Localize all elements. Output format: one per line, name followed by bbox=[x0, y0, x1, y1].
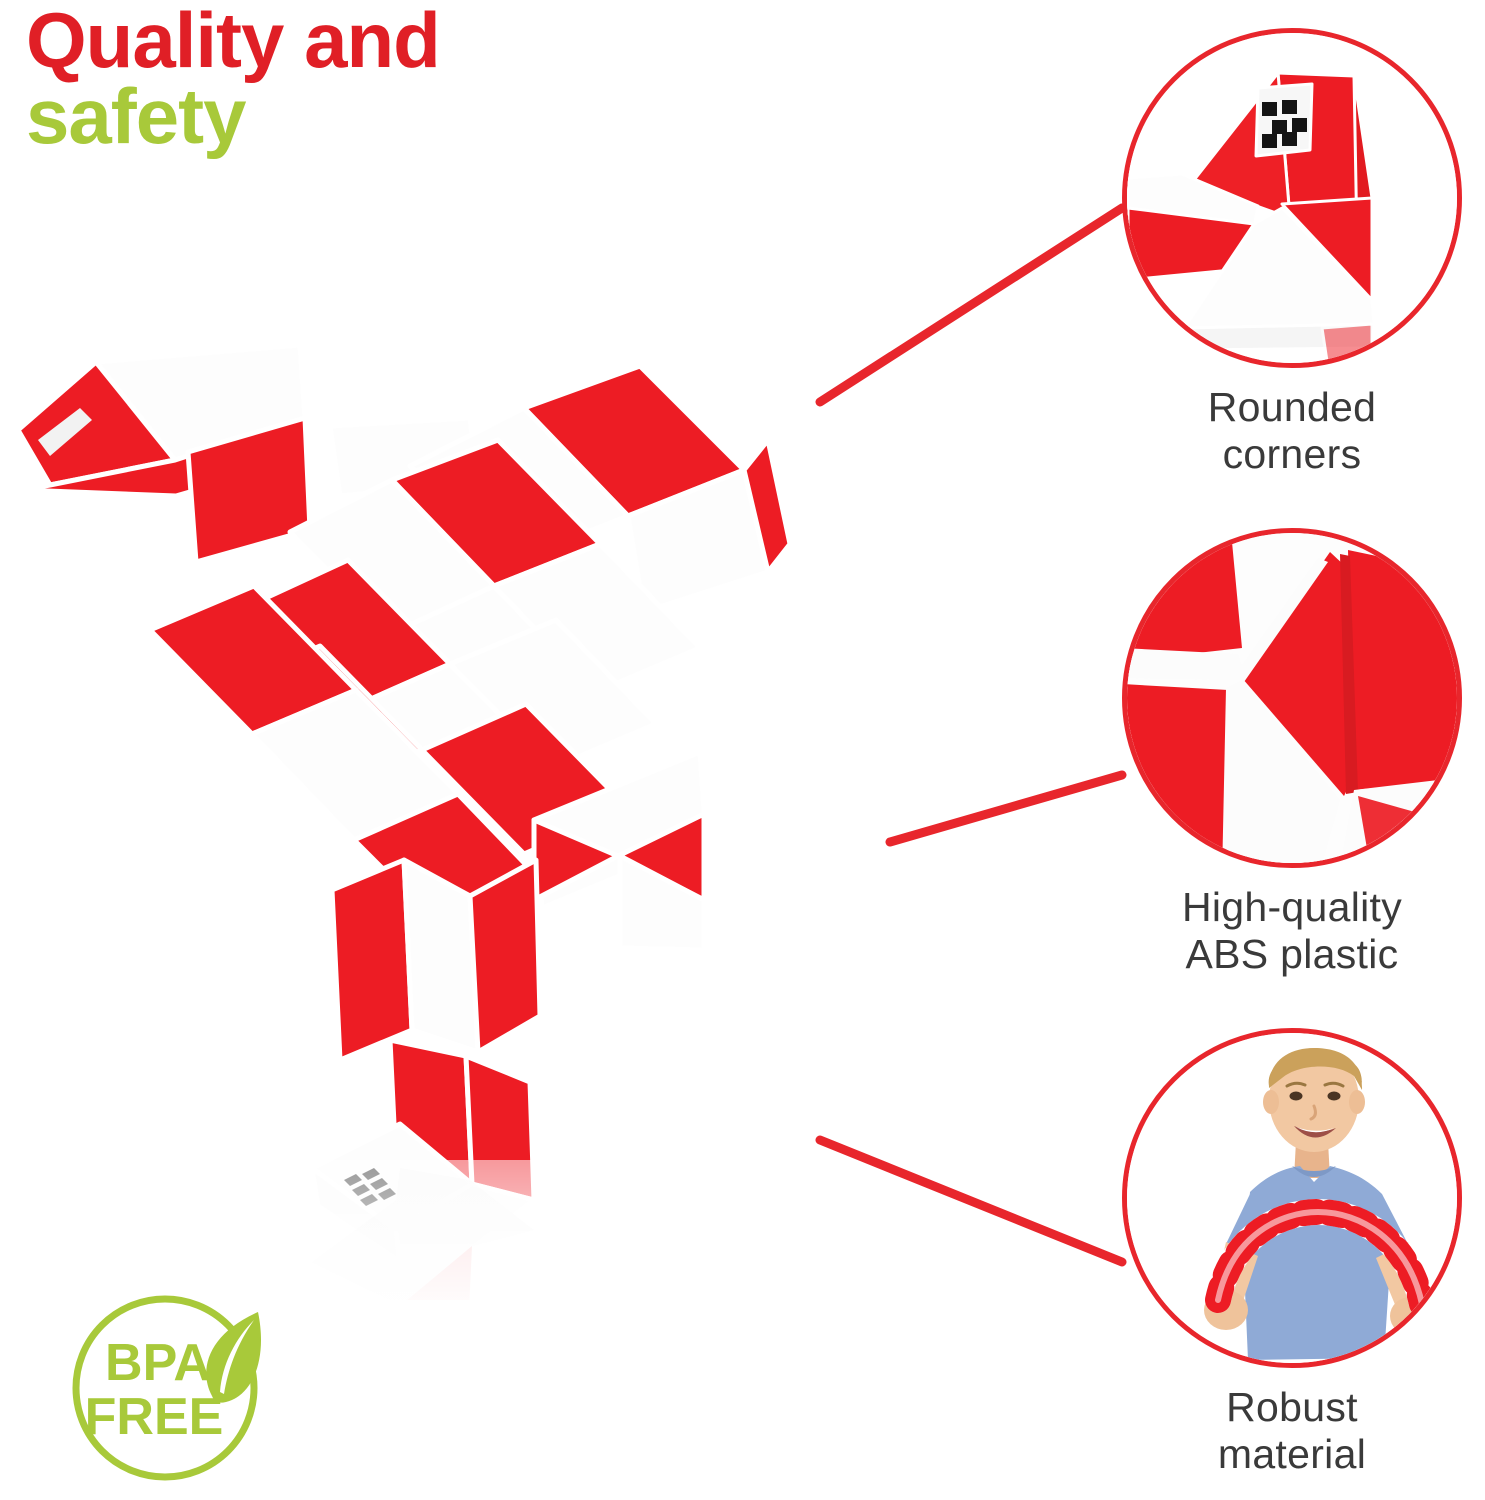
callout-abs-plastic: High-quality ABS plastic bbox=[1112, 528, 1472, 977]
bpa-free-icon: BPA FREE bbox=[62, 1288, 282, 1488]
headline-line-2: safety bbox=[26, 78, 646, 154]
callout-2-circle bbox=[1122, 528, 1462, 868]
bpa-text: BPA bbox=[105, 1334, 211, 1392]
callout-2-label: High-quality ABS plastic bbox=[1112, 884, 1472, 977]
connector-line-1 bbox=[820, 208, 1122, 402]
callout-3-label: Robust material bbox=[1112, 1384, 1472, 1477]
boy-with-puzzle-image bbox=[1122, 1028, 1462, 1368]
bpa-free-badge: BPA FREE bbox=[62, 1288, 282, 1488]
callout-robust-material: Robust material bbox=[1112, 1028, 1472, 1477]
rounded-corner-closeup-image bbox=[1122, 28, 1462, 368]
headline-line-1: Quality and bbox=[26, 2, 646, 78]
callout-3-label-line-2: material bbox=[1218, 1431, 1366, 1477]
connector-line-2 bbox=[890, 775, 1122, 842]
callout-1-label-line-1: Rounded bbox=[1208, 384, 1377, 430]
callout-2-label-line-1: High-quality bbox=[1182, 884, 1402, 930]
plastic-macro-image bbox=[1122, 528, 1462, 868]
callout-rounded-corners: Rounded corners bbox=[1112, 28, 1472, 477]
callout-1-label-line-2: corners bbox=[1223, 431, 1362, 477]
product-image bbox=[0, 300, 830, 1300]
callout-3-circle bbox=[1122, 1028, 1462, 1368]
page-title: Quality and safety bbox=[26, 2, 646, 155]
callout-3-label-line-1: Robust bbox=[1226, 1384, 1358, 1430]
snake-puzzle-illustration bbox=[0, 300, 830, 1300]
callout-1-label: Rounded corners bbox=[1112, 384, 1472, 477]
callout-2-label-line-2: ABS plastic bbox=[1186, 931, 1399, 977]
callout-1-circle bbox=[1122, 28, 1462, 368]
free-text: FREE bbox=[85, 1388, 224, 1446]
connector-line-3 bbox=[820, 1140, 1122, 1262]
